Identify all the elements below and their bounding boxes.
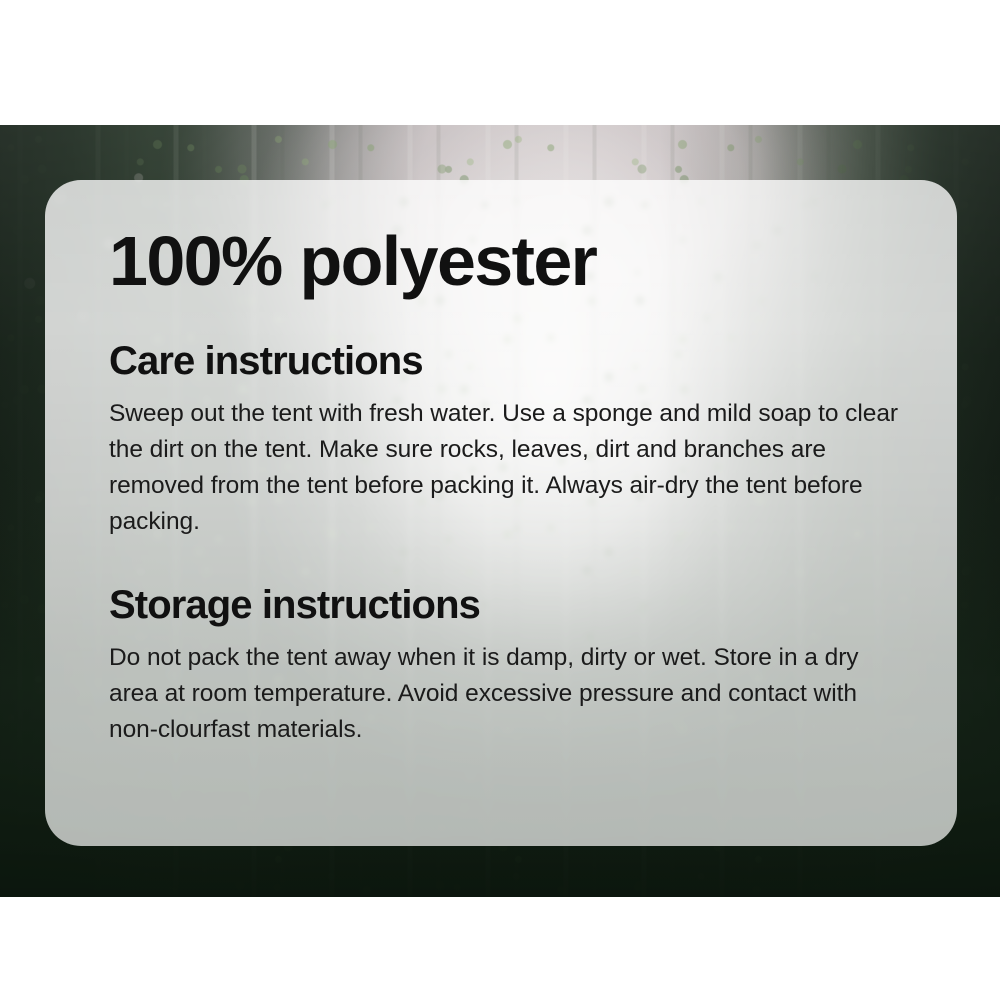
care-instructions-heading: Care instructions <box>109 340 905 382</box>
info-card: 100% polyester Care instructions Sweep o… <box>45 180 957 846</box>
care-instructions-section: Care instructions Sweep out the tent wit… <box>97 340 905 540</box>
storage-instructions-section: Storage instructions Do not pack the ten… <box>97 584 905 748</box>
storage-instructions-heading: Storage instructions <box>109 584 905 626</box>
page-title: 100% polyester <box>109 226 905 296</box>
care-instructions-body: Sweep out the tent with fresh water. Use… <box>109 396 905 540</box>
product-infographic: 100% polyester Care instructions Sweep o… <box>0 0 1000 1000</box>
storage-instructions-body: Do not pack the tent away when it is dam… <box>109 640 905 748</box>
